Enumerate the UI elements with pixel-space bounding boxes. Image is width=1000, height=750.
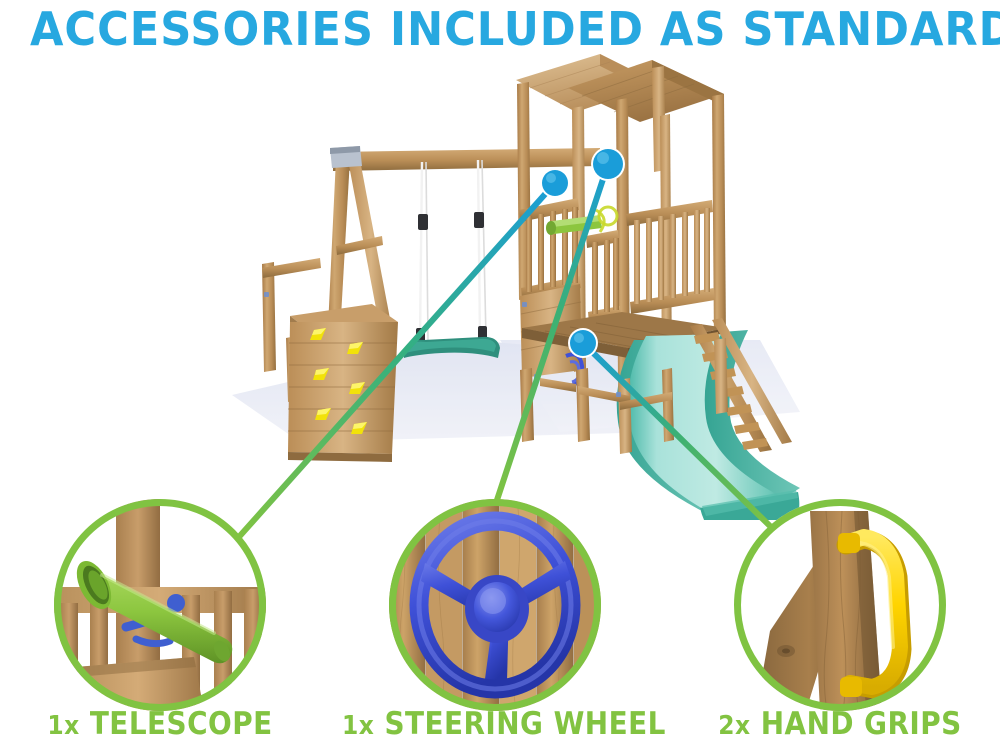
inset-hand-grips-image <box>734 499 946 711</box>
caption-hand-grips-label: HAND GRIPS <box>761 706 962 742</box>
inset-steering-wheel-image <box>389 499 601 711</box>
inset-telescope-image <box>54 499 266 711</box>
caption-telescope-qty: 1x <box>47 711 79 741</box>
caption-steering-wheel-label: STEERING WHEEL <box>384 706 665 742</box>
caption-steering-wheel-qty: 1x <box>342 711 374 741</box>
caption-steering-wheel: 1x STEERING WHEEL <box>342 706 648 742</box>
inset-hand-grips <box>734 499 946 711</box>
tower-railing-front <box>626 200 715 314</box>
tower-railing-left <box>519 198 581 300</box>
caption-hand-grips: 2x HAND GRIPS <box>687 706 993 742</box>
product-scene <box>0 40 1000 520</box>
caption-telescope-label: TELESCOPE <box>90 706 273 742</box>
swing-seat-and-ropes <box>404 160 500 358</box>
caption-telescope: 1x TELESCOPE <box>7 706 313 742</box>
tower-railing-mid <box>586 230 621 324</box>
infographic-page: ACCESSORIES INCLUDED AS STANDARD <box>0 0 1000 750</box>
inset-steering-wheel <box>389 499 601 711</box>
caption-hand-grips-qty: 2x <box>718 711 750 741</box>
inset-telescope <box>54 499 266 711</box>
